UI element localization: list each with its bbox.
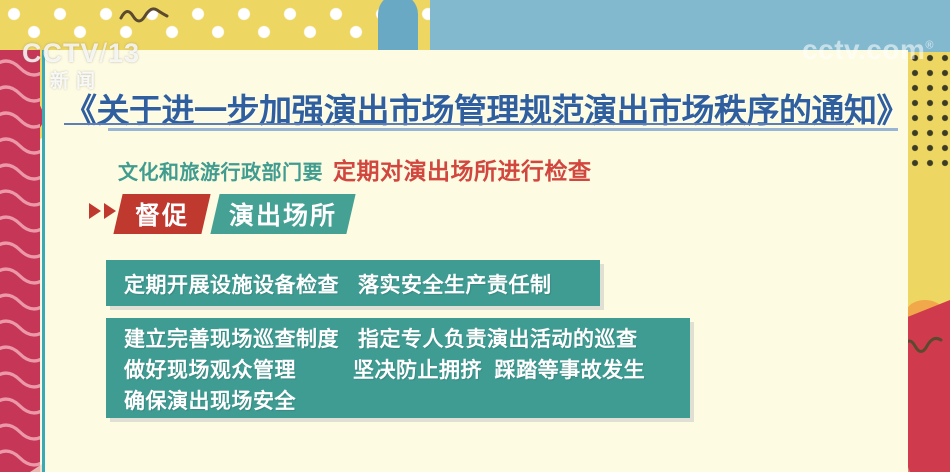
- info-box-2-line-2: 做好现场观众管理 坚决防止拥挤 踩踏等事故发生: [124, 354, 645, 384]
- badge-supervise-label: 督促: [135, 196, 189, 232]
- panel-left-accent: [42, 50, 45, 472]
- watermark-reg-mark: ®: [925, 40, 934, 52]
- left-crimson-wave-band: [0, 50, 40, 472]
- subtitle-highlight: 定期对演出场所进行检查: [333, 158, 592, 184]
- cctv-channel-logo: CCTV/13: [22, 38, 140, 69]
- cctv-logo-text: CCTV: [22, 38, 100, 68]
- left-red-swoosh: [0, 76, 46, 168]
- broadcast-graphic: CCTV/13 新闻 cctv.com® 《关于进一步加强演出市场管理规范演出市…: [0, 0, 950, 472]
- title-underline-secondary: [108, 128, 898, 131]
- orange-ellipse: [906, 300, 944, 326]
- info-box-2-line-1: 建立完善现场巡查制度 指定专人负责演出活动的巡查: [124, 323, 638, 353]
- info-box-2-line-3: 确保演出现场安全: [124, 385, 296, 415]
- cctv-com-watermark: cctv.com®: [802, 34, 934, 66]
- subtitle-lead: 文化和旅游行政部门要: [118, 162, 323, 184]
- title-underline-primary: [64, 123, 854, 125]
- cctv-channel-number: 13: [108, 38, 140, 68]
- cctv-channel-subtitle: 新闻: [50, 66, 102, 93]
- badge-supervise: 督促: [113, 194, 210, 234]
- badge-venue-label: 演出场所: [229, 196, 337, 232]
- badge-venue: 演出场所: [210, 194, 355, 234]
- info-box-1-line-1: 定期开展设施设备检查 落实安全生产责任制: [124, 269, 552, 299]
- info-box-1: 定期开展设施设备检查 落实安全生产责任制: [106, 260, 600, 306]
- badge-row: 督促 演出场所: [118, 194, 351, 234]
- subtitle: 文化和旅游行政部门要定期对演出场所进行检查: [118, 152, 592, 186]
- squiggle-icon-top: [118, 2, 170, 28]
- blue-arch-shape: [378, 0, 418, 52]
- info-box-2: 建立完善现场巡查制度 指定专人负责演出活动的巡查 做好现场观众管理 坚决防止拥挤…: [106, 318, 690, 418]
- double-arrow-icon: [88, 200, 120, 224]
- watermark-text: cctv.com: [802, 34, 925, 65]
